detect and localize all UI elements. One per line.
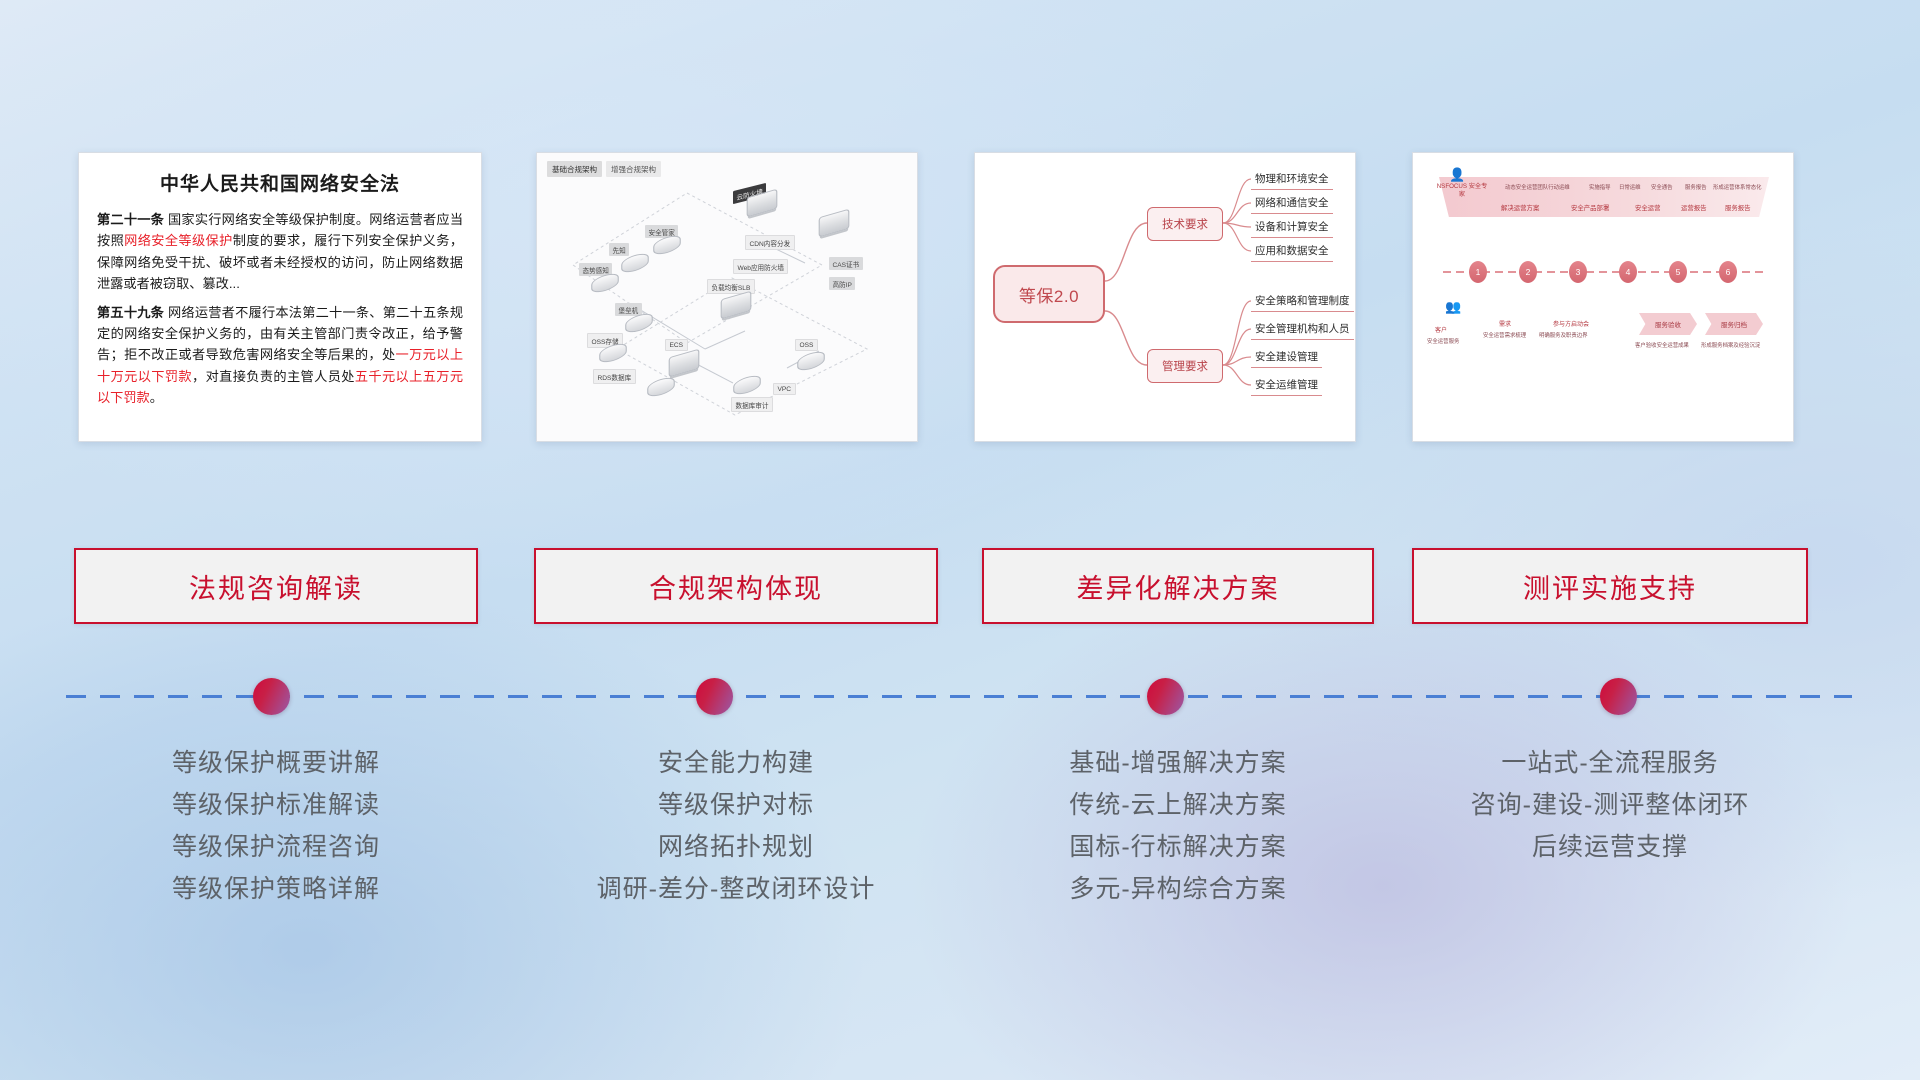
mindmap-leaf-physical-env: 物理和环境安全 [1251, 171, 1333, 190]
column-3-item-1: 基础-增强解决方案 [982, 742, 1374, 784]
text-column-1: 等级保护概要讲解 等级保护标准解读 等级保护流程咨询 等级保护策略详解 [74, 742, 478, 910]
timeline-step-5: 5 [1669, 261, 1687, 283]
node-icon-ecs [671, 353, 697, 373]
node-icon-xianzhi [623, 255, 647, 271]
article-59-label: 第五十九条 [97, 305, 164, 320]
timeline-marker-3 [1147, 678, 1184, 715]
card-cybersecurity-law: 中华人民共和国网络安全法 第二十一条 国家实行网络安全等级保护制度。网络运营者应… [78, 152, 482, 442]
mindmap-leaf-construction-mgmt: 安全建设管理 [1251, 349, 1322, 368]
node-label-web-firewall: Web应用防火墙 [733, 259, 788, 274]
text-column-3: 基础-增强解决方案 传统-云上解决方案 国标-行标解决方案 多元-异构综合方案 [982, 742, 1374, 910]
column-1-item-2: 等级保护标准解读 [74, 784, 478, 826]
band-caption-1: 实施指导 [1589, 183, 1611, 191]
timeline-step-2: 2 [1519, 261, 1537, 283]
heading-box-assessment-support[interactable]: 测评实施支持 [1412, 548, 1808, 624]
node-label-anti-ddos: 高防IP [829, 277, 855, 290]
node-label-cdn: CDN内容分发 [745, 235, 795, 250]
mindmap-leaf-policy-system: 安全策略和管理制度 [1251, 293, 1354, 312]
person-desc-requirement: 安全运营需求梳理 [1483, 331, 1526, 339]
timeline-step-4: 4 [1619, 261, 1637, 283]
column-4-item-1: 一站式-全流程服务 [1412, 742, 1808, 784]
node-icon-db-audit [735, 377, 759, 393]
node-label-rds: RDS数据库 [593, 369, 636, 384]
band-sub-2: 安全运营 [1635, 203, 1661, 212]
mindmap-branch-management: 管理要求 [1147, 349, 1223, 383]
mindmap-leaf-org-personnel: 安全管理机构和人员 [1251, 321, 1354, 340]
column-3-item-2: 传统-云上解决方案 [982, 784, 1374, 826]
band-sub-3: 运营报告 [1681, 203, 1707, 212]
mindmap-root-node: 等保2.0 [993, 265, 1105, 323]
mindmap-leaf-device-compute: 设备和计算安全 [1251, 219, 1333, 238]
node-label-db-audit: 数据库审计 [731, 397, 773, 412]
chevron-service-acceptance: 服务验收 [1639, 313, 1697, 335]
node-label-ecs: ECS [665, 339, 688, 351]
mindmap-branch-technical: 技术要求 [1147, 207, 1223, 241]
node-label-oss: OSS [795, 339, 818, 351]
node-icon-slb [723, 295, 749, 315]
column-2-item-2: 等级保护对标 [534, 784, 938, 826]
mindmap-leaf-ops-mgmt: 安全运维管理 [1251, 377, 1322, 396]
article-59-text-b: ，对直接负责的主管人员处 [192, 369, 355, 384]
mindmap-leaf-network-comm: 网络和通信安全 [1251, 195, 1333, 214]
column-2-item-4: 调研-差分-整改闭环设计 [534, 868, 938, 910]
node-icon-bastion-host [627, 315, 651, 331]
column-2-item-3: 网络拓扑规划 [534, 826, 938, 868]
node-icon-cdn-edge [821, 213, 847, 233]
timeline-marker-1 [253, 678, 290, 715]
client-person-icon: 👥 [1445, 299, 1461, 315]
person-desc-kickoff: 明确服务及职责边界 [1539, 331, 1588, 339]
chevron-caption-0: 客户验收安全运营成果 [1635, 341, 1689, 349]
text-column-4: 一站式-全流程服务 咨询-建设-测评整体闭环 后续运营支撑 [1412, 742, 1808, 868]
node-label-cas: CAS证书 [829, 257, 863, 270]
heading-label-4: 测评实施支持 [1523, 567, 1697, 606]
column-3-item-4: 多元-异构综合方案 [982, 868, 1374, 910]
card-cloud-architecture: 基础合规架构 增强合规架构 云防火墙 安全管家 先知 态势感知 堡垒机 ECS … [536, 152, 918, 442]
heading-label-1: 法规咨询解读 [189, 567, 363, 606]
timeline-step-3: 3 [1569, 261, 1587, 283]
column-4-item-3: 后续运营支撑 [1412, 826, 1808, 868]
card-mindmap-dengbao: 等保2.0 技术要求 物理和环境安全 网络和通信安全 设备和计算安全 应用和数据… [974, 152, 1356, 442]
node-icon-security-butler [655, 237, 679, 253]
person-label-client: 客户 [1435, 325, 1447, 334]
card-service-timeline: 👤 NSFOCUS 安全专家 动态安全运营团队行动运维 实施指导 日常运维 安全… [1412, 152, 1794, 442]
column-4-item-2: 咨询-建设-测评整体闭环 [1412, 784, 1808, 826]
law-article-59: 第五十九条 网络运营者不履行本法第二十一条、第二十五条规定的网络安全保护义务的，… [97, 302, 463, 409]
text-column-2: 安全能力构建 等级保护对标 网络拓扑规划 调研-差分-整改闭环设计 [534, 742, 938, 910]
band-caption-2: 日常运维 [1619, 183, 1641, 191]
band-caption-0: 动态安全运营团队行动运维 [1505, 183, 1570, 191]
article-59-text-c: 。 [150, 390, 163, 405]
column-3-item-3: 国标-行标解决方案 [982, 826, 1374, 868]
heading-box-compliance-architecture[interactable]: 合规架构体现 [534, 548, 938, 624]
band-caption-3: 安全通告 [1651, 183, 1673, 191]
band-sub-0: 解决运营方案 [1501, 203, 1539, 212]
mindmap-leaf-app-data: 应用和数据安全 [1251, 243, 1333, 262]
node-icon-oss-storage [601, 345, 625, 361]
heading-box-differentiated-solutions[interactable]: 差异化解决方案 [982, 548, 1374, 624]
node-icon-cdn [749, 193, 775, 213]
slide-canvas: 中华人民共和国网络安全法 第二十一条 国家实行网络安全等级保护制度。网络运营者应… [0, 0, 1920, 1080]
band-sub-1: 安全产品部署 [1571, 203, 1609, 212]
heading-label-2: 合规架构体现 [649, 567, 823, 606]
column-1-item-4: 等级保护策略详解 [74, 868, 478, 910]
node-label-vpc: VPC [773, 383, 796, 395]
person-desc-client: 安全运营服务 [1427, 337, 1459, 345]
node-icon-rds [649, 379, 673, 395]
article-21-label: 第二十一条 [97, 212, 164, 227]
timeline-canvas: 👤 NSFOCUS 安全专家 动态安全运营团队行动运维 实施指导 日常运维 安全… [1413, 153, 1793, 441]
law-article-21: 第二十一条 国家实行网络安全等级保护制度。网络运营者应当按照网络安全等级保护制度… [97, 209, 463, 295]
timeline-step-1: 1 [1469, 261, 1487, 283]
band-caption-5: 形成运营体系常态化 [1713, 183, 1762, 191]
expert-person-icon: 👤 [1449, 167, 1465, 183]
timeline-marker-4 [1600, 678, 1637, 715]
column-1-item-1: 等级保护概要讲解 [74, 742, 478, 784]
timeline-dashed-line [66, 695, 1852, 698]
node-icon-oss [799, 353, 823, 369]
chevron-service-archive: 服务归档 [1705, 313, 1763, 335]
timeline-axis [1443, 271, 1765, 273]
column-2-item-1: 安全能力构建 [534, 742, 938, 784]
timeline-marker-2 [696, 678, 733, 715]
chevron-caption-1: 形成服务档案及经验沉淀 [1701, 341, 1760, 349]
person-label-kickoff: 参与方启动会 [1553, 319, 1589, 328]
node-icon-situational-awareness [593, 275, 617, 291]
column-1-item-3: 等级保护流程咨询 [74, 826, 478, 868]
band-sub-4: 服务报告 [1725, 203, 1751, 212]
person-label-requirement: 需求 [1499, 319, 1511, 328]
article-21-highlight: 网络安全等级保护 [124, 233, 233, 248]
heading-box-regulation-consulting[interactable]: 法规咨询解读 [74, 548, 478, 624]
heading-label-3: 差异化解决方案 [1077, 567, 1280, 606]
law-title: 中华人民共和国网络安全法 [97, 169, 463, 196]
band-caption-4: 服务报告 [1685, 183, 1707, 191]
brand-badge: NSFOCUS 安全专家 [1435, 183, 1489, 217]
timeline-step-6: 6 [1719, 261, 1737, 283]
